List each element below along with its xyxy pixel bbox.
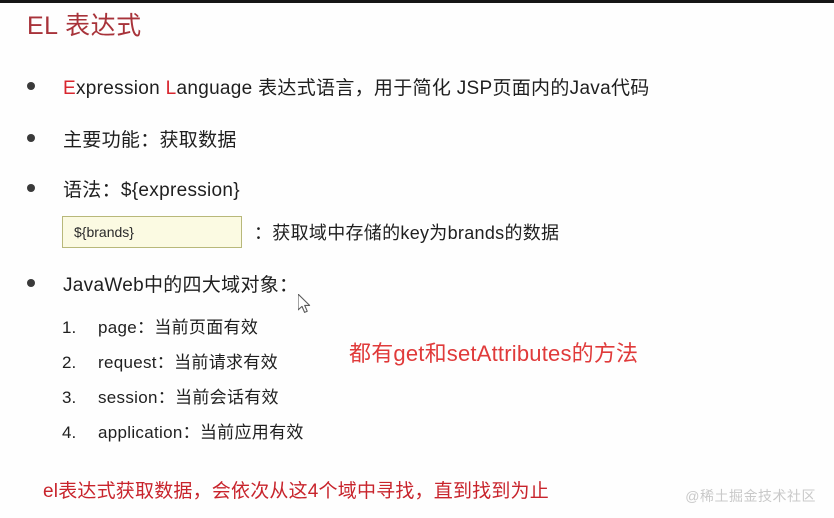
bullet-item-javaweb-scopes: JavaWeb中的四大域对象：: [27, 273, 298, 299]
top-edge-strip: [0, 0, 834, 3]
list-item-label: page：当前页面有效: [98, 313, 258, 338]
bullet-item-label: Expression Language 表达式语言，用于简化 JSP页面内的Ja…: [63, 76, 650, 102]
highlight-letter-e: E: [63, 78, 76, 99]
bullet-item-expression-language: Expression Language 表达式语言，用于简化 JSP页面内的Ja…: [27, 76, 650, 102]
bullet-item-label: JavaWeb中的四大域对象：: [63, 273, 298, 299]
code-example-row: ${brands} ：获取域中存储的key为brands的数据: [62, 216, 559, 248]
list-item-number: 4.: [62, 423, 98, 443]
bullet-item-label: 语法：${expression}: [63, 178, 240, 204]
bullet-item-main-function: 主要功能：获取数据: [27, 128, 237, 154]
slide-canvas: EL 表达式 Expression Language 表达式语言，用于简化 JS…: [0, 0, 834, 518]
bullet-dot-icon: [27, 279, 35, 287]
code-example-caption: ：获取域中存储的key为brands的数据: [254, 219, 559, 245]
bullet-dot-icon: [27, 184, 35, 192]
list-item: 3. session：当前会话有效: [62, 383, 304, 418]
list-item-label: session：当前会话有效: [98, 383, 279, 408]
list-item: 4. application：当前应用有效: [62, 418, 304, 453]
bullet-item-syntax: 语法：${expression}: [27, 178, 240, 204]
list-item-label: application：当前应用有效: [98, 418, 304, 443]
bullet-text-part-1: xpression: [76, 78, 166, 99]
scope-ordered-list: 1. page：当前页面有效 2. request：当前请求有效 3. sess…: [62, 313, 304, 453]
watermark-label: @稀土掘金技术社区: [685, 486, 816, 506]
code-snippet-chip: ${brands}: [62, 216, 242, 248]
bullet-item-label: 主要功能：获取数据: [63, 128, 237, 154]
list-item: 1. page：当前页面有效: [62, 313, 304, 348]
annotation-el-lookup-order: el表达式获取数据，会依次从这4个域中寻找，直到找到为止: [43, 476, 549, 503]
bullet-dot-icon: [27, 134, 35, 142]
list-item-label: request：当前请求有效: [98, 348, 278, 373]
page-title: EL 表达式: [27, 10, 142, 42]
list-item-number: 1.: [62, 318, 98, 338]
bullet-text-part-2: anguage 表达式语言，用于简化 JSP页面内的Java代码: [176, 78, 649, 99]
bullet-dot-icon: [27, 82, 35, 90]
highlight-letter-l: L: [166, 78, 177, 99]
list-item-number: 3.: [62, 388, 98, 408]
mouse-cursor-icon: [298, 294, 312, 314]
list-item: 2. request：当前请求有效: [62, 348, 304, 383]
annotation-get-set-attributes: 都有get和setAttributes的方法: [349, 336, 638, 368]
list-item-number: 2.: [62, 353, 98, 373]
